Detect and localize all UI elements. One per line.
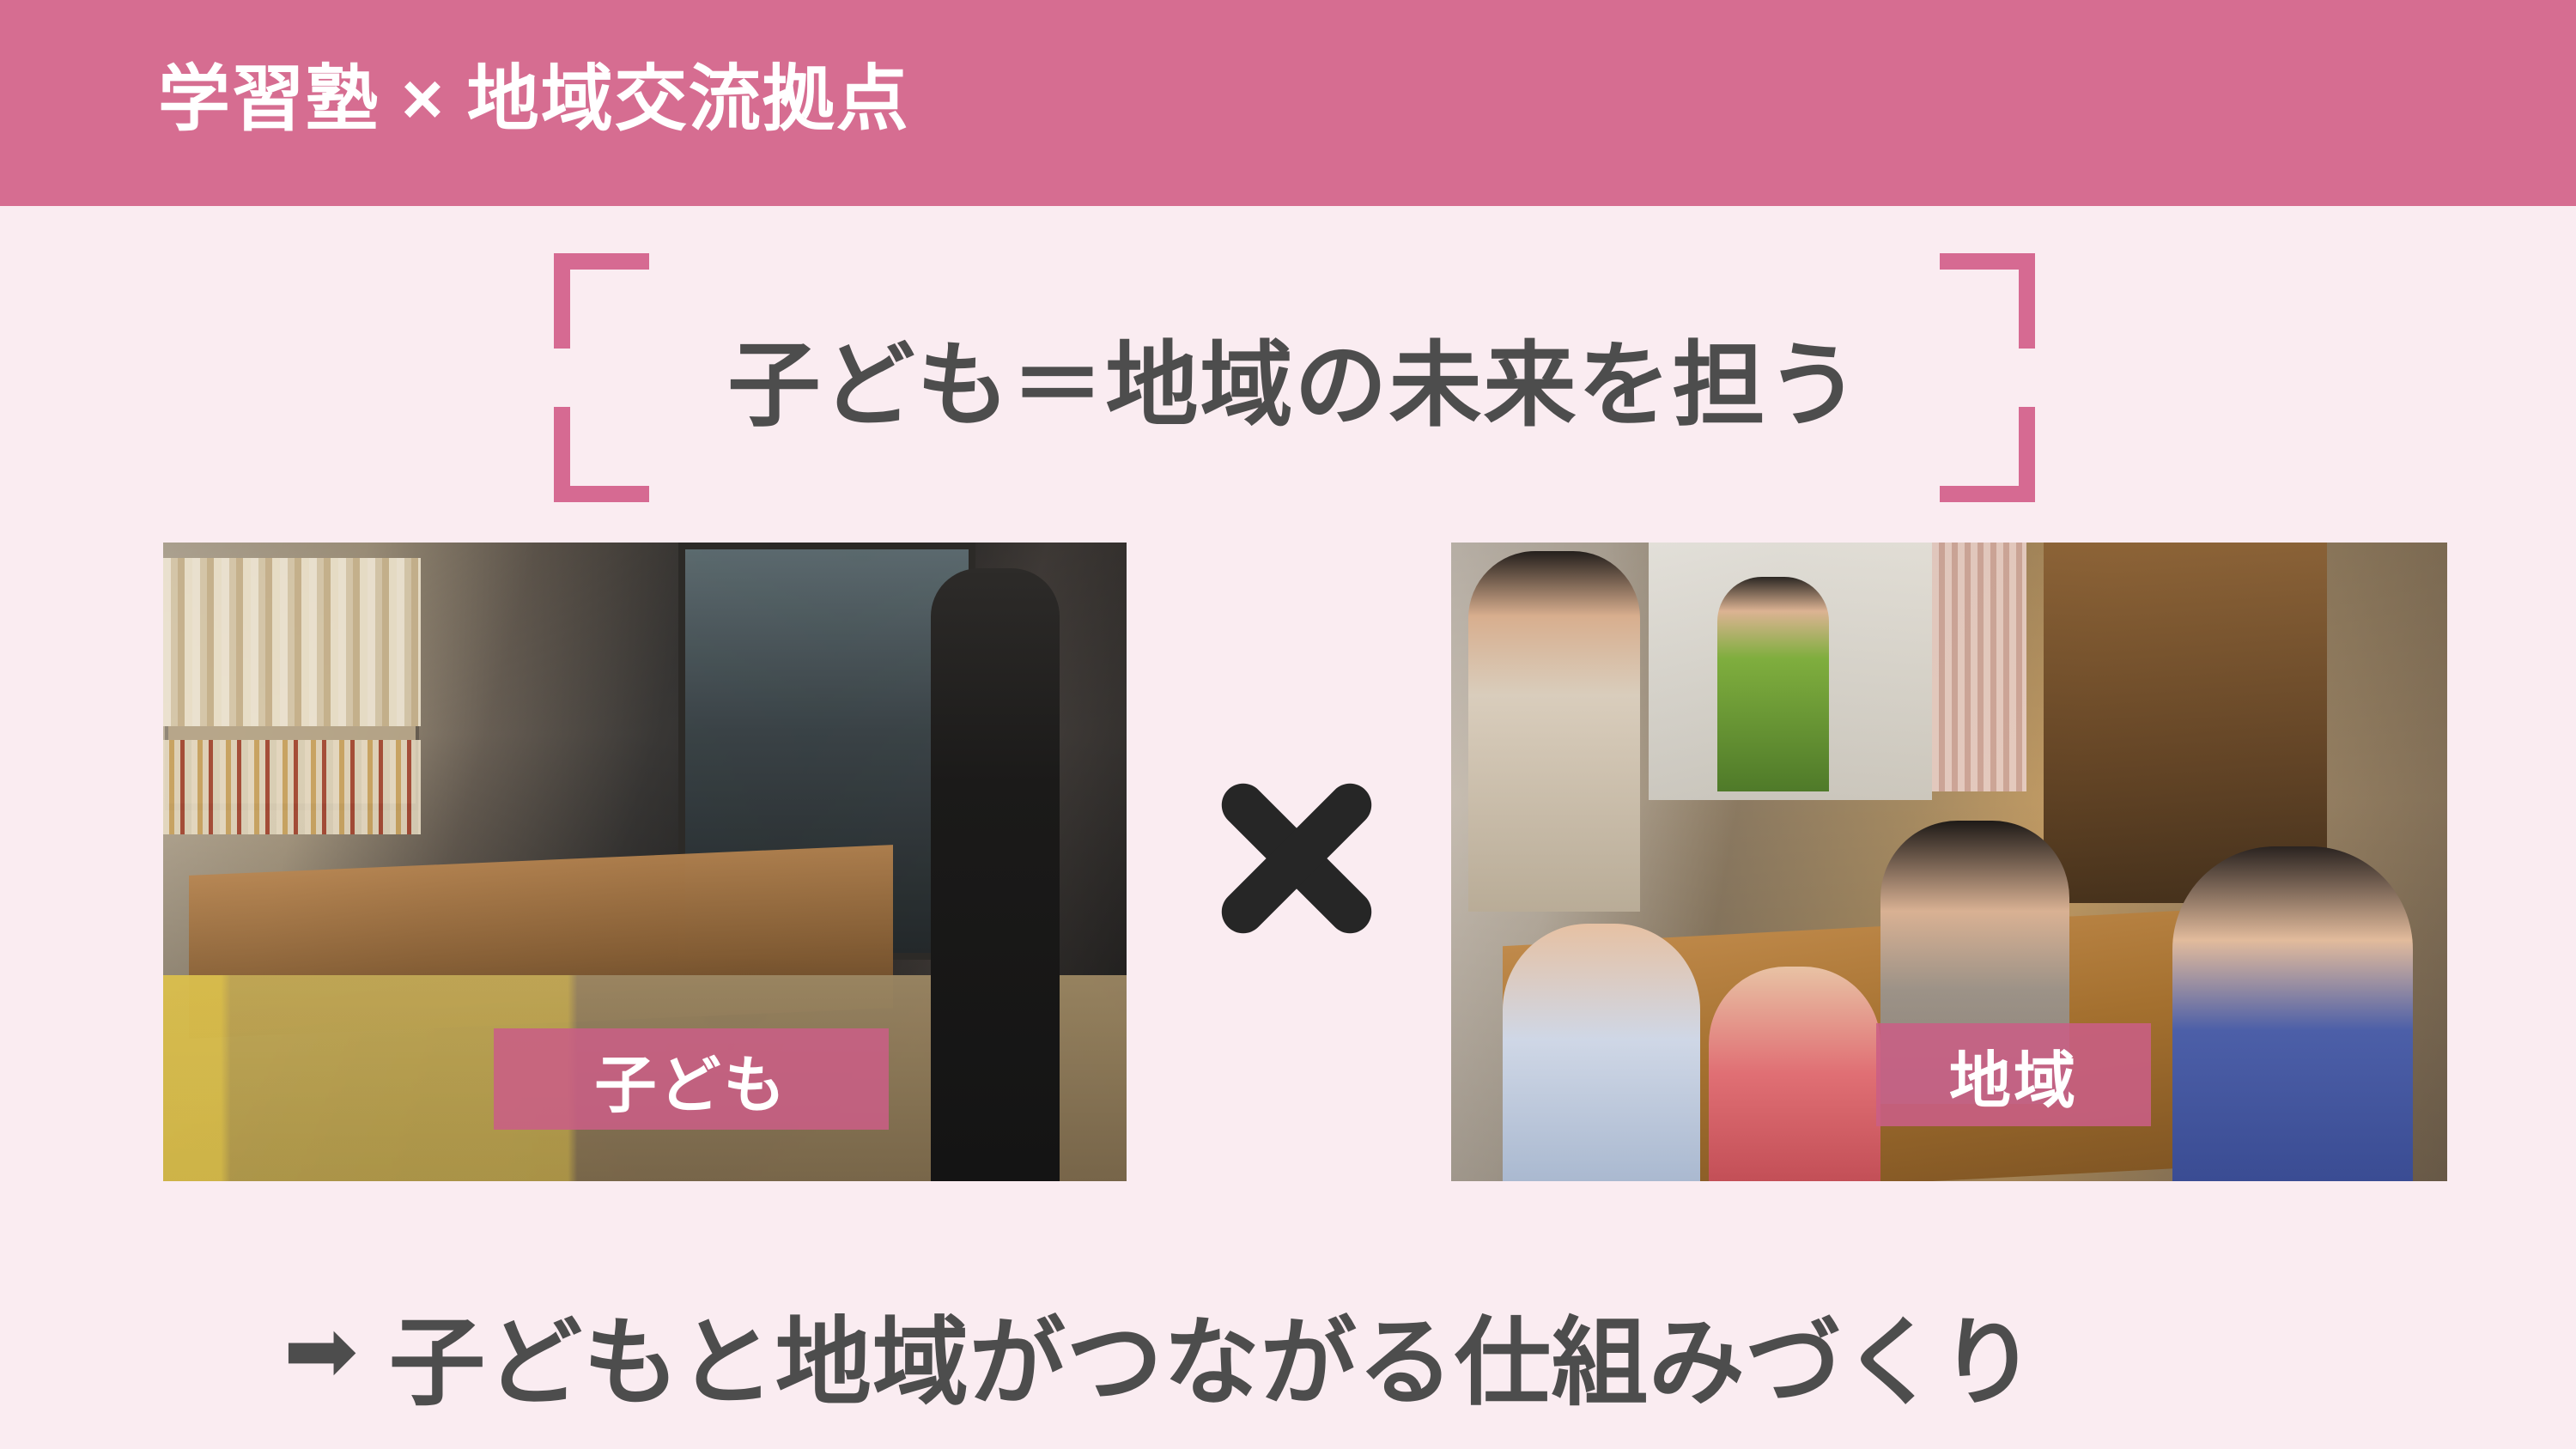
headline-text: 子ども＝地域の未来を担う: [554, 253, 2035, 502]
photo-detail-curtain: [1932, 543, 2026, 791]
slide-root: 学習塾 × 地域交流拠点 子ども＝地域の未来を担う: [0, 0, 2576, 1449]
cross-multiply-icon: [1198, 760, 1395, 957]
conclusion-rest-phrase: がつながる仕組みづくり: [969, 1309, 2037, 1416]
photo-detail-bookshelf: [163, 558, 421, 726]
photo-detail-child-right: [2172, 846, 2413, 1181]
photo-detail-bookshelf-lower: [163, 740, 421, 834]
conclusion-row: ➡ 子どもと地域がつながる仕組みづくり: [283, 1279, 2037, 1429]
photo-detail-standing-adult: [1468, 551, 1640, 912]
header-title: 学習塾 × 地域交流拠点: [158, 43, 910, 155]
photo-caption-community: 地域: [1876, 1023, 2151, 1126]
headline-frame: 子ども＝地域の未来を担う: [554, 253, 2035, 502]
photo-detail-green-jacket-person: [1717, 577, 1829, 791]
header-bar: 学習塾 × 地域交流拠点: [0, 0, 2576, 206]
photo-detail-child-middle: [1709, 967, 1880, 1181]
photo-caption-children: 子ども: [494, 1028, 889, 1130]
conclusion-text: 子どもと地域がつながる仕組みづくり: [389, 1285, 2037, 1424]
conclusion-highlighted-phrase: 子どもと地域: [389, 1285, 969, 1424]
photo-detail-child-left: [1503, 924, 1700, 1181]
arrow-right-icon: ➡: [283, 1307, 358, 1396]
photo-detail-standing-person: [931, 568, 1060, 1181]
